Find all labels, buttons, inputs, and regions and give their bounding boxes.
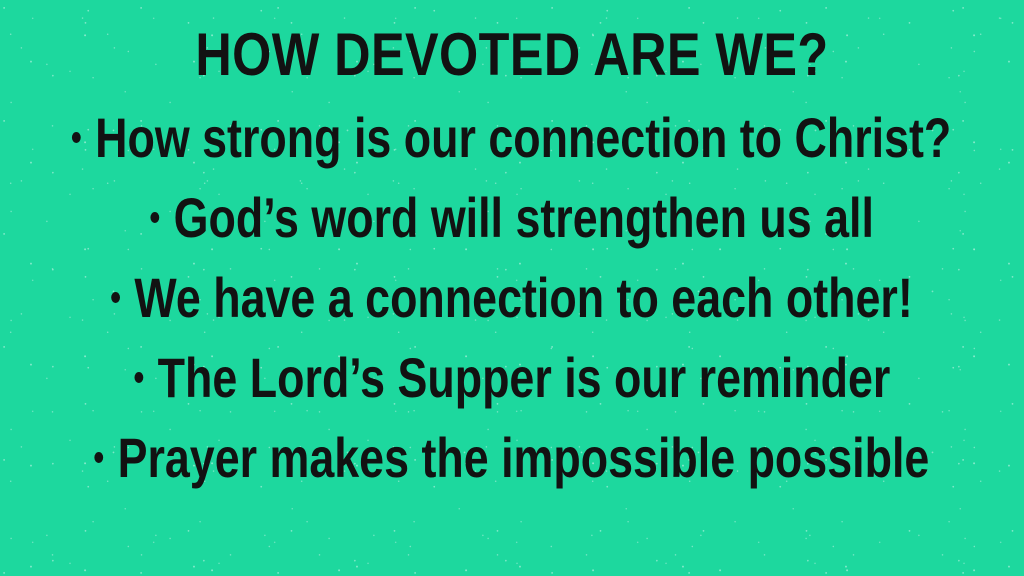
list-item-inner: The Lord’s Supper is our reminder — [134, 338, 890, 418]
bullet-dot-icon — [95, 452, 104, 463]
list-item-label: We have a connection to each other! — [134, 258, 912, 338]
list-item: We have a connection to each other! — [0, 258, 1024, 338]
slide-title: HOW DEVOTED ARE WE? — [195, 22, 828, 88]
list-item-inner: God’s word will strengthen us all — [150, 178, 873, 258]
list-item: The Lord’s Supper is our reminder — [0, 338, 1024, 418]
list-item-label: How strong is our connection to Christ? — [96, 98, 952, 178]
list-item: God’s word will strengthen us all — [0, 178, 1024, 258]
list-item-inner: We have a connection to each other! — [111, 258, 913, 338]
bullet-dot-icon — [111, 292, 120, 303]
list-item-inner: Prayer makes the impossible possible — [95, 418, 930, 498]
bullet-dot-icon — [134, 372, 143, 383]
list-item-label: God’s word will strengthen us all — [173, 178, 873, 258]
presentation-slide: HOW DEVOTED ARE WE? How strong is our co… — [0, 0, 1024, 576]
bullet-list: How strong is our connection to Christ? … — [0, 98, 1024, 498]
bullet-dot-icon — [150, 212, 159, 223]
list-item: How strong is our connection to Christ? — [0, 98, 1024, 178]
list-item-label: The Lord’s Supper is our reminder — [157, 338, 890, 418]
slide-content: HOW DEVOTED ARE WE? How strong is our co… — [0, 0, 1024, 576]
bullet-dot-icon — [72, 132, 81, 143]
list-item-inner: How strong is our connection to Christ? — [72, 98, 951, 178]
list-item-label: Prayer makes the impossible possible — [118, 418, 930, 498]
list-item: Prayer makes the impossible possible — [0, 418, 1024, 498]
